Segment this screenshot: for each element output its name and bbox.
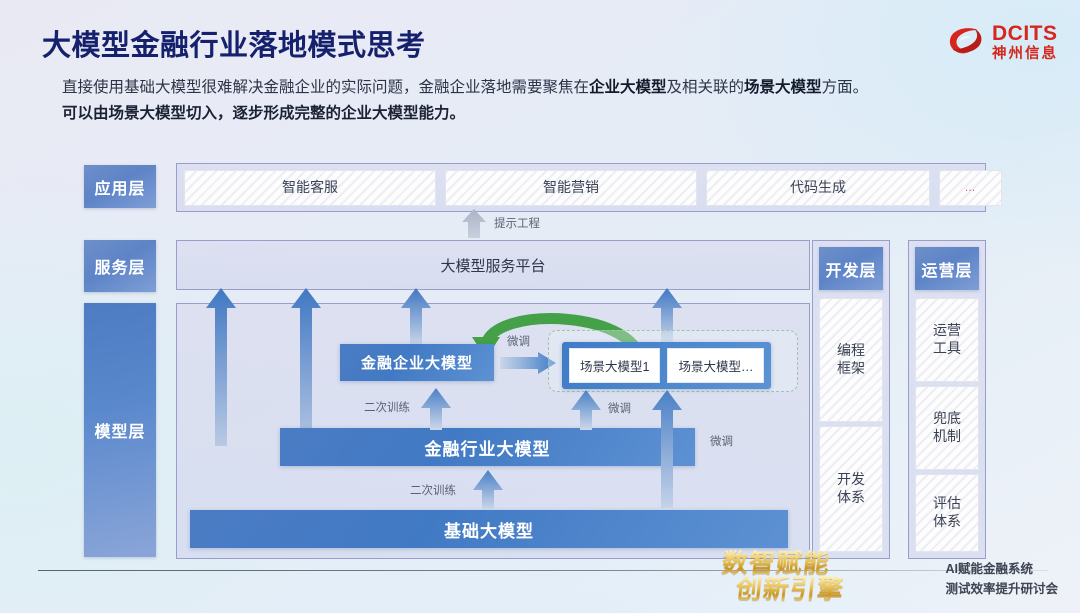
event-name: AI赋能金融系统 测试效率提升研讨会 — [945, 560, 1058, 599]
finetune-arrow-2-icon — [570, 390, 602, 430]
subtitle-line-2: 可以由场景大模型切入，逐步形成完整的企业大模型能力。 — [62, 102, 952, 126]
industry-model-box[interactable]: 金融行业大模型 — [280, 428, 695, 466]
retrain-arrow-2-icon — [472, 470, 504, 510]
layer-tag-service: 服务层 — [84, 240, 156, 292]
event-line-2: 测试效率提升研讨会 — [945, 580, 1058, 599]
develop-item-1[interactable]: 开发体系 — [819, 426, 883, 552]
up-arrow-1-icon — [205, 286, 237, 446]
slide-root: 大模型金融行业落地模式思考 直接使用基础大模型很难解决金融企业的实际问题，金融企… — [0, 0, 1080, 613]
layer-tag-application: 应用层 — [84, 165, 156, 208]
slogan-line-1: 数智赋能 — [721, 550, 846, 577]
event-line-1: AI赋能金融系统 — [945, 560, 1058, 579]
footer-divider — [38, 570, 1048, 571]
page-title: 大模型金融行业落地模式思考 — [42, 22, 426, 64]
subtitle-seg-a: 直接使用基础大模型很难解决金融企业的实际问题，金融企业落地需要聚焦在 — [62, 79, 589, 96]
up-arrow-3-icon — [400, 286, 432, 348]
operation-item-1[interactable]: 兜底机制 — [915, 386, 979, 470]
caption-prompt-engineering: 提示工程 — [494, 215, 540, 231]
subtitle-line-1: 直接使用基础大模型很难解决金融企业的实际问题，金融企业落地需要聚焦在企业大模型及… — [62, 76, 952, 100]
app-item-more[interactable]: … — [939, 170, 1002, 206]
subtitle-seg-c: 及相关联的 — [667, 79, 745, 96]
slogan-line-2: 创新引擎 — [735, 576, 846, 603]
subtitle-block: 直接使用基础大模型很难解决金融企业的实际问题，金融企业落地需要聚焦在企业大模型及… — [62, 76, 952, 126]
subtitle-seg-e: 方面。 — [822, 79, 869, 96]
service-layer-panel: 大模型服务平台 — [176, 240, 810, 290]
logo-cn: 神州信息 — [992, 47, 1058, 62]
develop-layer-panel: 开发层 编程框架 开发体系 — [812, 240, 890, 559]
event-slogan: 数智赋能 创新引擎 — [722, 550, 844, 603]
app-item-1[interactable]: 智能营销 — [445, 170, 697, 206]
brand-logo: DCITS 神州信息 — [945, 22, 1058, 62]
scene-item-0[interactable]: 场景大模型1 — [569, 348, 660, 383]
subtitle-emph-scene: 场景大模型 — [744, 79, 822, 96]
caption-finetune-1: 微调 — [507, 333, 530, 349]
dcits-swirl-icon — [945, 22, 985, 62]
subtitle-emph-enterprise: 企业大模型 — [589, 79, 667, 96]
caption-retrain-1: 二次训练 — [364, 399, 410, 415]
logo-text: DCITS 神州信息 — [992, 23, 1058, 62]
prompt-engineering-arrow-icon — [461, 208, 487, 238]
layer-tag-model: 模型层 — [84, 303, 156, 557]
retrain-arrow-1-icon — [420, 388, 452, 430]
caption-retrain-2: 二次训练 — [410, 482, 456, 498]
scene-model-box: 场景大模型1 场景大模型… — [562, 342, 771, 389]
service-platform-label: 大模型服务平台 — [177, 241, 809, 289]
application-layer-panel: 智能客服 智能营销 代码生成 … — [176, 163, 986, 212]
base-model-box[interactable]: 基础大模型 — [190, 510, 788, 548]
enterprise-model-box[interactable]: 金融企业大模型 — [340, 344, 494, 381]
app-item-0[interactable]: 智能客服 — [184, 170, 436, 206]
layer-tag-develop: 开发层 — [819, 247, 883, 290]
finetune-arrow-3-icon — [651, 390, 683, 508]
scene-item-1[interactable]: 场景大模型… — [667, 348, 764, 383]
develop-item-0[interactable]: 编程框架 — [819, 298, 883, 422]
caption-finetune-2: 微调 — [608, 400, 631, 416]
operation-item-0[interactable]: 运营工具 — [915, 298, 979, 382]
operation-layer-panel: 运营层 运营工具 兜底机制 评估体系 — [908, 240, 986, 559]
layer-tag-operation: 运营层 — [915, 247, 979, 290]
logo-en: DCITS — [992, 23, 1058, 44]
app-item-2[interactable]: 代码生成 — [706, 170, 930, 206]
caption-finetune-3: 微调 — [710, 433, 733, 449]
operation-item-2[interactable]: 评估体系 — [915, 474, 979, 552]
